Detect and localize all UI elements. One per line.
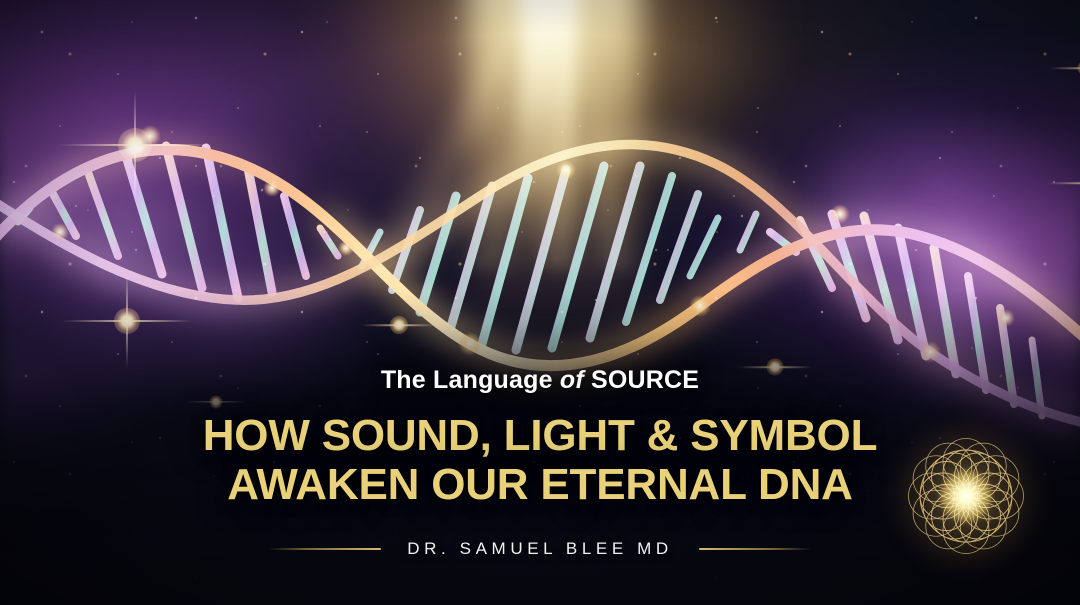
eyebrow-subtitle: The Language of SOURCE (0, 368, 1080, 393)
author-byline: DR. SAMUEL BLEE MD (407, 539, 672, 559)
eyebrow-before: The Language (381, 366, 560, 394)
byline-rule-left (269, 548, 381, 550)
flower-of-life-icon (908, 438, 1024, 554)
banner-hero: The Language of SOURCE HOW SOUND, LIGHT … (0, 0, 1080, 605)
mandala-circles (908, 438, 1024, 554)
byline-rule-right (699, 548, 811, 550)
eyebrow-after: SOURCE (584, 366, 699, 394)
headline-line-1: HOW SOUND, LIGHT & SYMBOL (203, 411, 878, 460)
eyebrow-italic-of: of (560, 366, 584, 394)
